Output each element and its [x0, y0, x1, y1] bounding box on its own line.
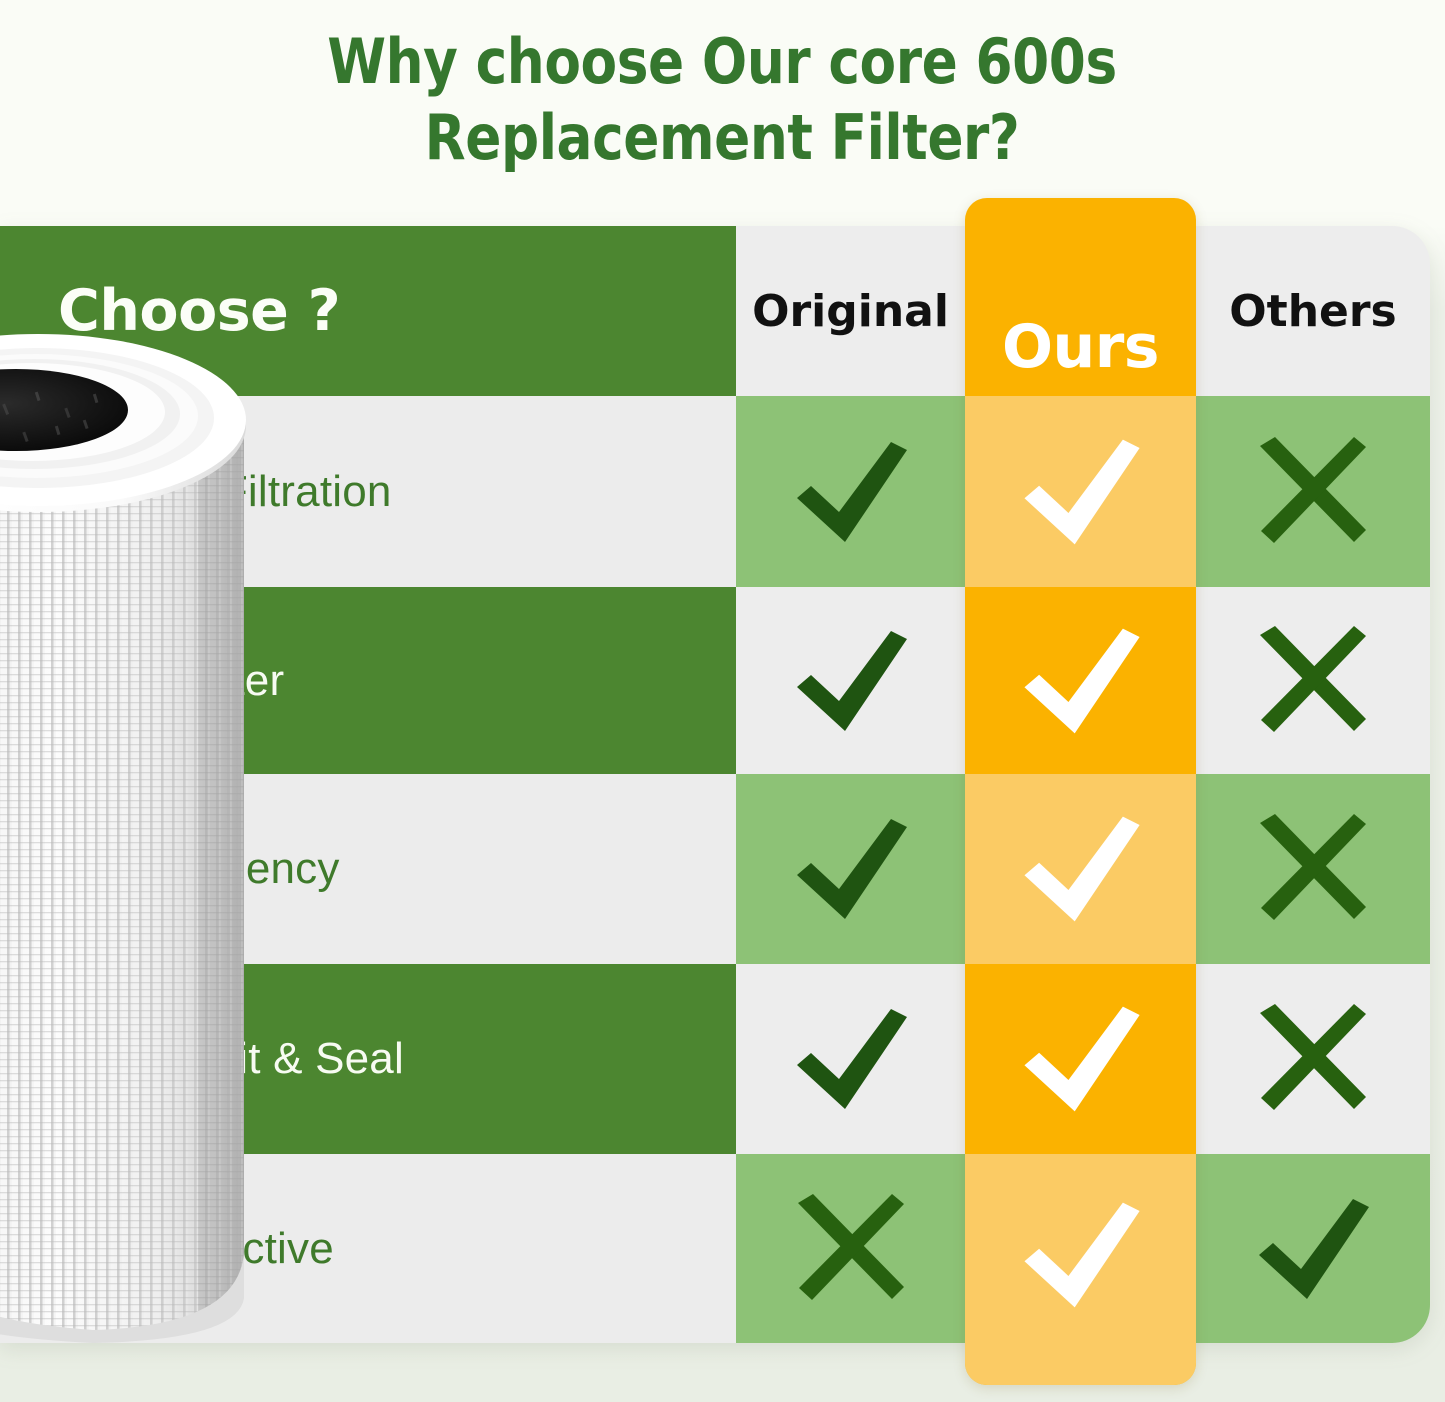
cell-original-efficiency: [736, 774, 965, 964]
comparison-grid: Choose ? Original Others 99.97% Filtrati…: [0, 226, 1430, 1343]
check-icon: [787, 436, 915, 548]
cross-icon: [792, 1194, 910, 1304]
cell-ours-hepa: [965, 587, 1196, 774]
cell-ours-fit-seal: [965, 964, 1196, 1154]
cell-others-hepa: [1196, 587, 1430, 774]
ours-column-header: Ours: [965, 198, 1196, 396]
ours-column-header-label: Ours: [1002, 312, 1159, 382]
row-label-cost-effective: Cost-Effective: [0, 1154, 736, 1343]
cell-ours-cost-effective: [965, 1154, 1196, 1385]
check-icon: [1014, 622, 1148, 740]
comparison-table: Choose ? Original Others 99.97% Filtrati…: [0, 226, 1430, 1343]
cross-icon: [1254, 437, 1372, 547]
cross-icon: [1254, 1004, 1372, 1114]
cell-original-cost-effective: [736, 1154, 965, 1343]
table-header-feature-label: Choose ?: [0, 226, 736, 396]
cross-icon: [1254, 626, 1372, 736]
ours-column-highlight[interactable]: Ours: [965, 198, 1196, 1385]
row-label-efficiency: High Eficiency: [0, 774, 736, 964]
cross-icon: [1254, 814, 1372, 924]
cell-ours-filtration: [965, 396, 1196, 587]
row-label-filtration: 99.97% Filtration: [0, 396, 736, 587]
check-icon: [1014, 433, 1148, 551]
cell-others-cost-effective: [1196, 1154, 1430, 1343]
page-title: Why choose Our core 600s Replacement Fil…: [0, 0, 1445, 200]
check-icon: [1014, 1196, 1148, 1314]
cell-original-filtration: [736, 396, 965, 587]
check-icon: [1014, 810, 1148, 928]
page-title-text: Why choose Our core 600s Replacement Fil…: [328, 24, 1118, 175]
cell-original-hepa: [736, 587, 965, 774]
cell-ours-efficiency: [965, 774, 1196, 964]
table-header-others: Others: [1196, 226, 1430, 396]
check-icon: [1014, 1000, 1148, 1118]
row-label-hepa: HEPA Filter: [0, 587, 736, 774]
row-label-fit-seal: Perfect Fit & Seal: [0, 964, 736, 1154]
check-icon: [787, 625, 915, 737]
check-icon: [1249, 1193, 1377, 1305]
cell-others-efficiency: [1196, 774, 1430, 964]
table-header-original: Original: [736, 226, 965, 396]
check-icon: [787, 813, 915, 925]
cell-others-filtration: [1196, 396, 1430, 587]
cell-others-fit-seal: [1196, 964, 1430, 1154]
cell-original-fit-seal: [736, 964, 965, 1154]
check-icon: [787, 1003, 915, 1115]
